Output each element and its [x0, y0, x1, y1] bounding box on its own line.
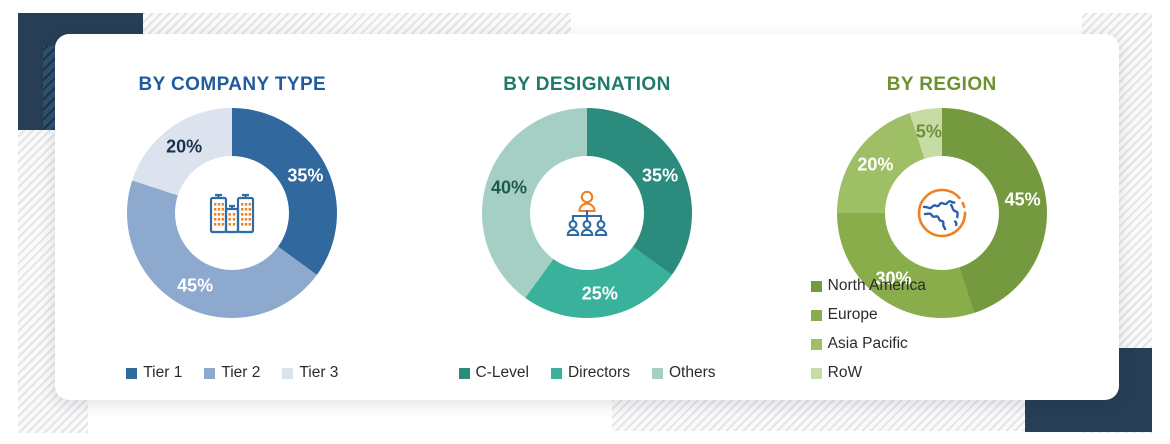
slice-label-directors: 25%: [582, 283, 618, 304]
navy-corner-top-left-arm-v: [18, 13, 43, 130]
donut-center-region: [885, 156, 999, 270]
panel-by-designation: BY DESIGNATION: [410, 34, 765, 400]
legend-swatch-row: [811, 368, 822, 379]
slice-label-tier-2: 45%: [177, 276, 213, 297]
legend-swatch-directors: [551, 368, 562, 379]
legend-label-directors: Directors: [568, 364, 630, 382]
legend-item-tier-3[interactable]: Tier 3: [282, 364, 338, 382]
legend-label-row: RoW: [828, 364, 862, 382]
panel-by-region: BY REGION 45% 30%: [764, 34, 1119, 400]
office-buildings-icon: [201, 182, 263, 244]
legend-swatch-tier-3: [282, 368, 293, 379]
legend-item-asia-pacific[interactable]: Asia Pacific: [811, 335, 956, 353]
legend-label-europe: Europe: [828, 306, 878, 324]
legend-swatch-c-level: [459, 368, 470, 379]
panel-by-company-type: BY COMPANY TYPE: [55, 34, 410, 400]
panel-title-region: BY REGION: [887, 74, 997, 96]
legend-item-directors[interactable]: Directors: [551, 364, 630, 382]
legend-item-europe[interactable]: Europe: [811, 306, 956, 324]
legend-label-others: Others: [669, 364, 716, 382]
legend-item-tier-2[interactable]: Tier 2: [204, 364, 260, 382]
slice-label-c-level: 35%: [642, 165, 678, 186]
legend-designation: C-Level Directors Others: [410, 364, 765, 382]
org-chart-people-icon: [556, 182, 618, 244]
legend-label-tier-3: Tier 3: [299, 364, 338, 382]
legend-label-asia-pacific: Asia Pacific: [828, 335, 908, 353]
slice-label-north-america: 45%: [1005, 190, 1041, 211]
slice-label-asia-pacific: 20%: [857, 154, 893, 175]
slice-label-row: 5%: [916, 122, 942, 143]
legend-label-c-level: C-Level: [476, 364, 529, 382]
legend-item-others[interactable]: Others: [652, 364, 716, 382]
legend-region: North America Europe Asia Pacific RoW: [797, 277, 1087, 382]
donut-center-designation: [530, 156, 644, 270]
donut-chart-company-type: 35% 45% 20%: [127, 108, 337, 318]
legend-item-tier-1[interactable]: Tier 1: [126, 364, 182, 382]
legend-company-type: Tier 1 Tier 2 Tier 3: [55, 364, 410, 382]
legend-label-tier-2: Tier 2: [221, 364, 260, 382]
slice-label-tier-3: 20%: [166, 136, 202, 157]
globe-icon: [910, 181, 974, 245]
legend-label-tier-1: Tier 1: [143, 364, 182, 382]
legend-swatch-tier-1: [126, 368, 137, 379]
legend-swatch-europe: [811, 310, 822, 321]
legend-item-c-level[interactable]: C-Level: [459, 364, 529, 382]
charts-card: BY COMPANY TYPE: [55, 34, 1119, 400]
legend-item-north-america[interactable]: North America: [811, 277, 956, 295]
donut-chart-designation: 35% 25% 40%: [482, 108, 692, 318]
panel-title-designation: BY DESIGNATION: [503, 74, 670, 96]
legend-swatch-others: [652, 368, 663, 379]
slice-label-others: 40%: [491, 177, 527, 198]
donut-center-company-type: [175, 156, 289, 270]
legend-item-row[interactable]: RoW: [811, 364, 956, 382]
panel-title-company-type: BY COMPANY TYPE: [139, 74, 327, 96]
legend-swatch-north-america: [811, 281, 822, 292]
legend-swatch-asia-pacific: [811, 339, 822, 350]
legend-swatch-tier-2: [204, 368, 215, 379]
legend-label-north-america: North America: [828, 277, 926, 295]
slice-label-tier-1: 35%: [287, 165, 323, 186]
